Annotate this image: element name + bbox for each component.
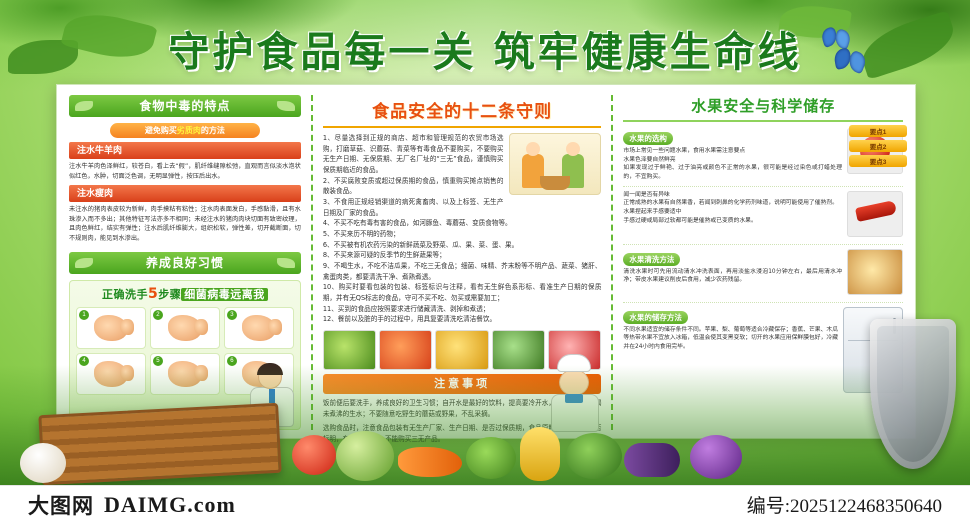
handwash-step: 2 [150, 307, 220, 349]
side-tag-point-2: 要点2 [849, 140, 907, 152]
side-tag-point-3: 要点3 [849, 155, 907, 167]
butterfly-icon [835, 49, 868, 75]
right-section-header: 水果安全与科学储存 [623, 95, 903, 122]
tag-fruit-store: 水果的储存方法 [623, 311, 688, 324]
hand-icon [168, 315, 202, 341]
rule-item: 6、不买被有机农药污染的新鲜蔬菜及野菜、瓜、果、菜、蛋、果。 [323, 240, 602, 251]
step-number: 2 [153, 310, 163, 320]
watermark-en: DAIMG.com [104, 492, 236, 518]
eggplant-decoration [624, 443, 680, 477]
rule-item: 9、不喝生水，不吃不洁瓜果，不吃三无食品；细菌、味精、芥末粉等不明产品、蔬菜、猪… [323, 261, 602, 282]
step-number: 5 [153, 356, 163, 366]
chili-photo [847, 191, 903, 237]
mid-header-wrap: 食品安全的十二条守则 [323, 95, 602, 128]
step-number: 4 [79, 356, 89, 366]
avoid-bad-meat-pill: 避免购买劣质肉的方法 [110, 123, 260, 138]
hand-icon [242, 315, 276, 341]
tag-injected-pork-text: 未注水的猪肉表皮较为新鲜，肉手摸粘有粘性；注水肉表面发白，手感黏滑，且有水珠渗入… [69, 205, 301, 243]
tag-injected-beef: 注水牛羊肉 [69, 142, 301, 159]
pill-post-text: 的方法 [201, 126, 225, 135]
handwashing-title-mid: 步骤 [158, 288, 181, 301]
step-number: 1 [79, 310, 89, 320]
left-section-1-header: 食物中毒的特点 [69, 95, 301, 117]
poster-canvas: 守护食品每一关 筑牢健康生命线 食物中毒的特点 避免购买劣质肉的方法 注水牛羊肉… [0, 0, 970, 485]
watermark-group: 大图网 DAIMG.com [28, 490, 236, 520]
pill-highlight-text: 劣质肉 [177, 126, 201, 135]
watermark-cn: 大图网 [28, 490, 94, 520]
fruit-wash-block: 水果清洗方法 清洗水果时可先用流动清水冲洗表面，再用淡盐水浸泡10分钟左右，最后… [623, 249, 903, 303]
image-code: 编号:2025122468350640 [747, 491, 942, 518]
fruit-side-tags: 要点1 要点2 要点3 [849, 125, 907, 170]
hand-icon [94, 315, 128, 341]
rule-item: 3、不食用正规经销渠道的病死禽畜肉、以及上标签、无生产日期及厂家的食品。 [323, 197, 602, 218]
tag-injected-pork: 注水瘦肉 [69, 185, 301, 202]
rule-item: 11、买到的食品应按照要求进行储藏清洗、剥掉和煮透； [323, 304, 602, 315]
chef-icon [547, 354, 603, 432]
pill-pre-text: 避免购买 [145, 126, 177, 135]
handwash-step: 1 [76, 307, 146, 349]
rule-item: 10、购买时要看包装的包装、标签标识与注释，看有无生鲜色系形标、看准生产日期的保… [323, 282, 602, 303]
rule-item: 5、不买来历不明的药物； [323, 229, 602, 240]
rule-item: 8、不买来源可疑的反季节的生鲜蔬果等； [323, 250, 602, 261]
wooden-crate-decoration [38, 403, 281, 485]
side-tag-point-1: 要点1 [849, 125, 907, 137]
fruit-basket-photo [847, 249, 903, 295]
step-number: 3 [227, 310, 237, 320]
handwashing-step-count: 5 [148, 286, 158, 302]
column-left: 食物中毒的特点 避免购买劣质肉的方法 注水牛羊肉 注水牛羊肉色泽鲜红，较苍白，看… [57, 85, 311, 438]
shield-icon [870, 319, 956, 469]
handwash-step: 3 [224, 307, 294, 349]
step-number: 6 [227, 356, 237, 366]
hand-icon [94, 361, 128, 387]
carrot-decoration [398, 447, 462, 477]
tag-injected-beef-text: 注水牛羊肉色泽鲜红，较苍白，看上去“假”，肌纤维缝隙松弛，直观而言似淡水泡状似红… [69, 162, 301, 181]
tag-fruit-structure: 水果的选构 [623, 132, 673, 145]
rule-item: 4、不买不吃有毒有害的食品，如河豚鱼、毒蘑菇、变质食物等。 [323, 218, 602, 229]
fruit-point-2-block: 闻一闻是否有异味 正常成熟的水果有自然果香，若闻到刺鼻的化学药剂味道，说明可能使… [623, 191, 903, 245]
grape-decoration [690, 435, 742, 479]
mid-section-header: 食品安全的十二条守则 [323, 95, 602, 126]
tag-fruit-wash: 水果清洗方法 [623, 253, 680, 266]
screenshot-root: 守护食品每一关 筑牢健康生命线 食物中毒的特点 避免购买劣质肉的方法 注水牛羊肉… [0, 0, 970, 523]
vegetable-photo [492, 330, 545, 370]
handwashing-title-pre: 正确洗手 [102, 288, 148, 301]
vegetable-photo [379, 330, 432, 370]
handwashing-title-green: 细菌病毒远离我 [181, 288, 268, 301]
left-section-2-header: 养成良好习惯 [69, 252, 301, 274]
column-middle: 食品安全的十二条守则 1、尽量选择到正规的商店、超市和管理规范的农贸市场选购，打… [313, 85, 612, 438]
rule-item: 12、餐前以及脏的手的过程中，用具复要清洗吃清洁餐饮。 [323, 314, 602, 325]
handwash-step: 4 [76, 353, 146, 395]
handwash-step: 5 [150, 353, 220, 395]
vegetable-photo [323, 330, 376, 370]
fruit-store-block: 水果的储存方法 不同水果适宜的储存条件不同。苹果、梨、葡萄等适合冷藏保存；香蕉、… [623, 307, 903, 401]
footer-bar: 大图网 DAIMG.com 编号:2025122468350640 [0, 485, 970, 523]
market-illustration [509, 133, 601, 195]
vegetable-photo [435, 330, 488, 370]
hand-icon [168, 361, 202, 387]
content-board: 食物中毒的特点 避免购买劣质肉的方法 注水牛羊肉 注水牛羊肉色泽鲜红，较苍白，看… [56, 84, 916, 439]
handwashing-title: 正确洗手5步骤细菌病毒远离我 [76, 286, 294, 302]
